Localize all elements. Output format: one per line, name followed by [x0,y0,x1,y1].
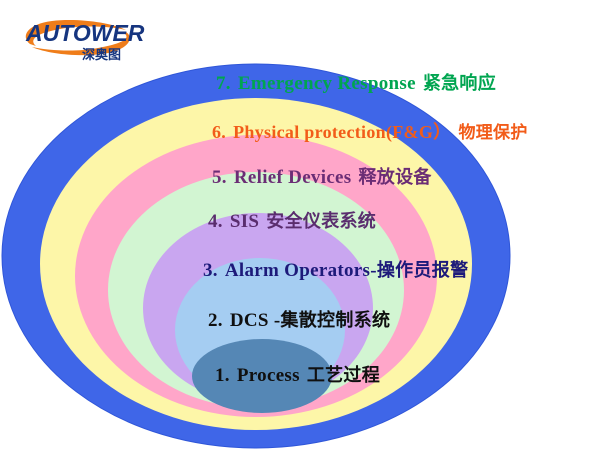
layer-6-label-en: Physical protection(F&G） [233,122,451,142]
layer-2-label-cn: 集散控制系统 [280,310,390,331]
layer-6-label-cn: 物理保护 [458,123,527,143]
layer-1-number: 1. [215,365,230,386]
layer-5-number: 5. [212,167,227,188]
layer-label-process: 1.Process工艺过程 [215,366,380,385]
layer-4-label-cn: 安全仪表系统 [266,211,376,232]
layer-5-label-cn: 释放设备 [358,167,431,188]
layer-7-number: 7. [216,73,231,94]
protection-layers-diagram [0,0,600,464]
layer-7-label-cn: 紧急响应 [423,73,496,94]
layer-label-physical-protection: 6.Physical protection(F&G）物理保护 [212,123,528,142]
layer-1-label-cn: 工艺过程 [307,365,380,386]
layer-4-label-en: SIS [230,211,259,232]
layer-3-label-cn: 操作员报警 [377,260,469,281]
layer-label-alarm-operators: 3.Alarm Operators-操作员报警 [203,261,468,280]
layer-5-label-en: Relief Devices [234,167,352,188]
layer-2-label-en: DCS - [230,310,281,331]
layer-label-sis: 4.SIS安全仪表系统 [208,212,376,231]
layer-1-label-en: Process [237,365,300,386]
layer-label-dcs: 2.DCS -集散控制系统 [208,311,390,330]
layer-3-label-en: Alarm Operators- [225,260,377,281]
layer-label-relief-devices: 5.Relief Devices释放设备 [212,168,432,187]
layer-2-number: 2. [208,310,223,331]
layer-3-number: 3. [203,260,218,281]
layer-label-emergency-response: 7.Emergency Response紧急响应 [216,74,496,93]
layer-6-number: 6. [212,122,226,142]
layer-4-number: 4. [208,211,223,232]
layer-7-label-en: Emergency Response [238,73,416,94]
